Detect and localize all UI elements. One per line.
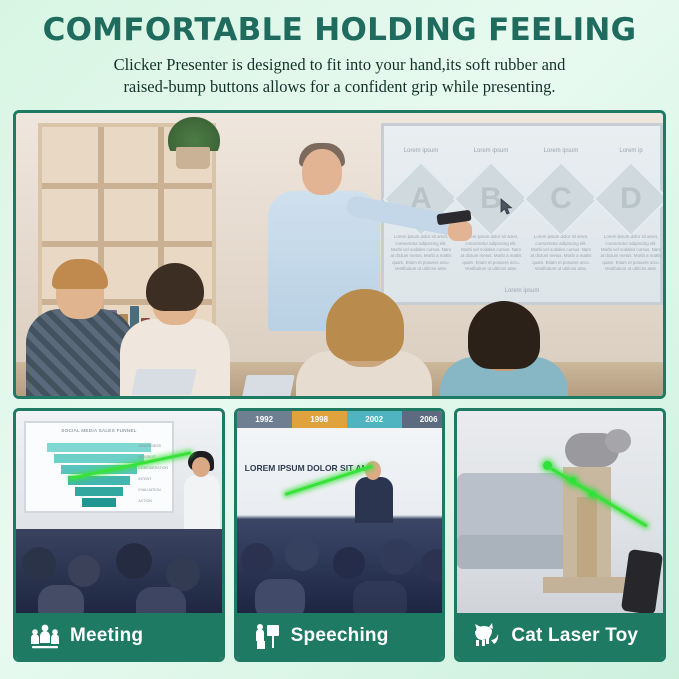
tower-base xyxy=(543,577,635,593)
header: COMFORTABLE HOLDING FEELING Clicker Pres… xyxy=(10,10,669,100)
meeting-photo: SOCIAL MEDIA SALES FUNNEL AWARENESS INTE… xyxy=(16,411,222,619)
audience-body xyxy=(26,309,134,399)
audience-hair xyxy=(326,289,404,361)
use-case-card-speeching[interactable]: 1992 1998 2002 2006 LOREM IPSUM DOLOR SI… xyxy=(234,408,446,662)
timeline-segment: 1998 xyxy=(292,411,347,428)
timeline-segment: 2006 xyxy=(402,411,443,428)
presenter-hand xyxy=(448,221,472,241)
product-infographic: COMFORTABLE HOLDING FEELING Clicker Pres… xyxy=(0,0,679,679)
audience-hair xyxy=(146,263,204,311)
slide-letter: C xyxy=(534,182,588,216)
speaker-podium-icon xyxy=(251,621,281,651)
subtitle-line-1: Clicker Presenter is designed to fit int… xyxy=(20,54,659,76)
timeline-segment: 1992 xyxy=(237,411,292,428)
card-label-text: Speeching xyxy=(291,625,389,647)
funnel-stage-labels: AWARENESS INTEREST CONSIDERATION INTENT … xyxy=(138,441,168,507)
laptop xyxy=(131,369,197,395)
hero-scene: Lorem ipsum Lorem ipsum Lorem ipsum Lore… xyxy=(16,113,663,396)
mouse-pointer-icon xyxy=(500,198,514,221)
audience-silhouettes xyxy=(16,529,222,619)
use-case-row: SOCIAL MEDIA SALES FUNNEL AWARENESS INTE… xyxy=(13,408,666,662)
audience-hair xyxy=(468,301,540,369)
plant-leaves xyxy=(168,117,220,151)
timeline-segment: 2002 xyxy=(347,411,402,428)
slide-body-text: Lorem ipsum dolor sit amet, consectetur … xyxy=(390,234,452,272)
speeching-photo: 1992 1998 2002 2006 LOREM IPSUM DOLOR SI… xyxy=(237,411,443,619)
speeching-label-bar: Speeching xyxy=(237,613,443,659)
slide-body-text: Lorem ipsum dolor sit amet, consectetur … xyxy=(530,234,592,272)
use-case-card-cat-laser-toy[interactable]: Cat Laser Toy xyxy=(454,408,666,662)
slide-caption: Lorem ip xyxy=(600,148,662,154)
board-title: SOCIAL MEDIA SALES FUNNEL xyxy=(26,428,172,433)
slide-caption: Lorem ipsum xyxy=(530,148,592,154)
cat-label-bar: Cat Laser Toy xyxy=(457,613,663,659)
laptop xyxy=(241,375,295,399)
cat-laser-photo xyxy=(457,411,663,619)
page-title: COMFORTABLE HOLDING FEELING xyxy=(20,14,659,47)
slide-body-text: Lorem ipsum dolor sit amet, consectetur … xyxy=(460,234,522,272)
slide-body-text: Lorem ipsum dolor sit amet, consectetur … xyxy=(600,234,662,272)
scratching-post xyxy=(577,497,597,581)
subtitle-line-2: raised-bump buttons allows for a confide… xyxy=(20,76,659,98)
use-case-card-meeting[interactable]: SOCIAL MEDIA SALES FUNNEL AWARENESS INTE… xyxy=(13,408,225,662)
slide-caption: Lorem ipsum xyxy=(390,148,452,154)
meeting-label-bar: Meeting xyxy=(16,613,222,659)
presentation-board: SOCIAL MEDIA SALES FUNNEL AWARENESS INTE… xyxy=(24,421,174,513)
page-subtitle: Clicker Presenter is designed to fit int… xyxy=(20,54,659,98)
card-label-text: Cat Laser Toy xyxy=(511,625,638,647)
card-label-text: Meeting xyxy=(70,625,143,647)
slide-footer-caption: Lorem ipsum xyxy=(384,288,660,294)
meeting-people-icon xyxy=(30,621,60,651)
audience-silhouettes xyxy=(237,523,443,619)
cat-icon xyxy=(471,621,501,651)
slide-letter: D xyxy=(604,182,658,216)
plant-pot xyxy=(176,147,210,169)
hero-image: Lorem ipsum Lorem ipsum Lorem ipsum Lore… xyxy=(13,110,666,399)
speaker-head xyxy=(365,461,381,480)
presenter-head xyxy=(302,149,342,195)
slide-caption: Lorem ipsum xyxy=(460,148,522,154)
presenter-body xyxy=(184,475,220,537)
